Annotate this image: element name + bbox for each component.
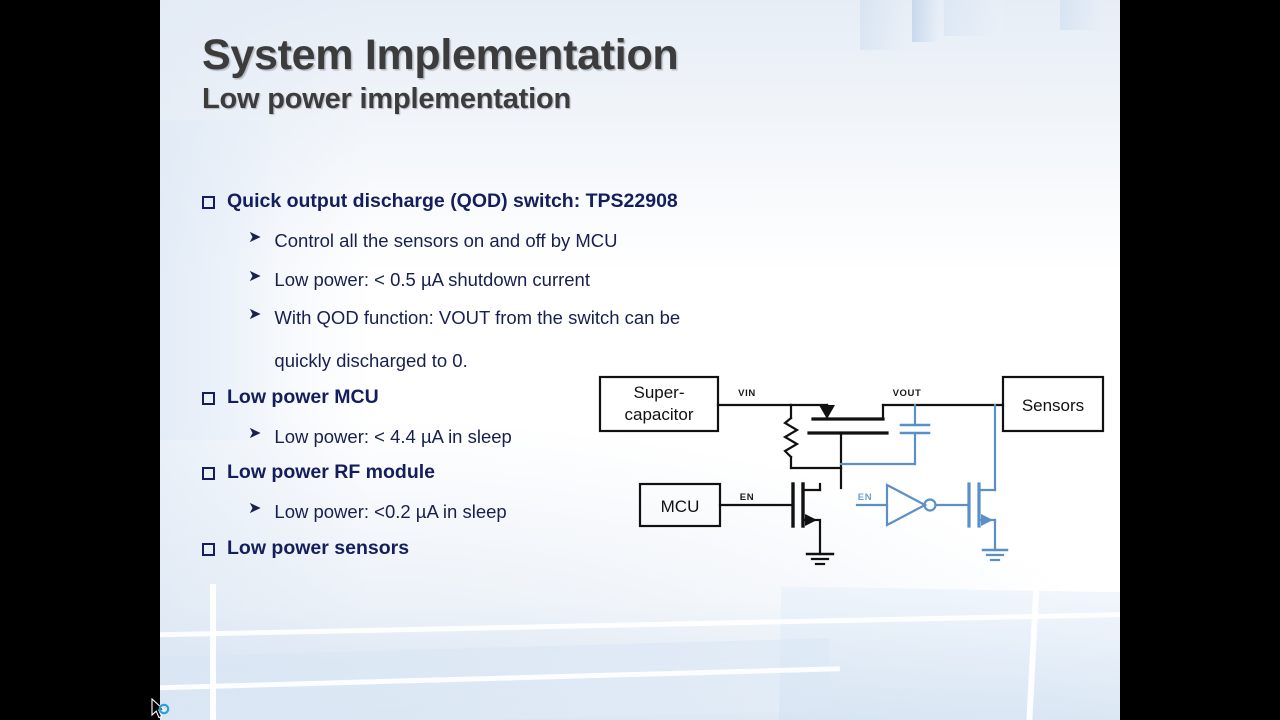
bullet-level2: ➤ Control all the sensors on and off by … xyxy=(248,227,842,256)
nmos-right-body-arrow xyxy=(981,514,993,526)
arrow-bullet-icon: ➤ xyxy=(248,269,261,285)
background-band xyxy=(779,586,1120,720)
mcu-label: MCU xyxy=(661,497,700,516)
arrow-bullet-icon: ➤ xyxy=(248,230,261,246)
vout-label: VOUT xyxy=(893,388,922,399)
presentation-slide: System Implementation Low power implemen… xyxy=(160,0,1120,720)
background-line xyxy=(1026,578,1040,720)
circuit-diagram: Super- capacitor Sensors MCU VIN VOUT EN… xyxy=(595,372,1115,577)
background-band xyxy=(160,589,1120,720)
background-line xyxy=(160,666,840,691)
arrow-bullet-icon: ➤ xyxy=(248,426,261,442)
background-line xyxy=(210,584,216,720)
page-subtitle: Low power implementation xyxy=(202,81,1082,117)
bullet-text: Control all the sensors on and off by MC… xyxy=(274,227,617,256)
en-mcu-label: EN xyxy=(740,492,754,503)
pmos-body-arrow xyxy=(819,405,835,419)
square-bullet-icon xyxy=(202,392,215,405)
screen: System Implementation Low power implemen… xyxy=(0,0,1280,720)
bullet-text: With QOD function: VOUT from the switch … xyxy=(274,304,680,333)
background-stripe xyxy=(944,0,1004,36)
page-title: System Implementation xyxy=(202,34,1082,77)
square-bullet-icon xyxy=(202,467,215,480)
supercapacitor-label-line1: Super- xyxy=(633,383,684,402)
arrow-bullet-icon: ➤ xyxy=(248,501,261,517)
pull-up-resistor xyxy=(785,418,797,457)
bullet-text: Low power sensors xyxy=(227,537,409,560)
vin-label: VIN xyxy=(738,388,756,399)
background-stripe xyxy=(1060,0,1104,30)
nmos-left-body-arrow xyxy=(805,514,817,526)
bullet-text: Low power: <0.2 µA in sleep xyxy=(274,498,506,527)
bullet-level1: Quick output discharge (QOD) switch: TPS… xyxy=(202,190,842,213)
sensors-label: Sensors xyxy=(1022,396,1084,415)
title-block: System Implementation Low power implemen… xyxy=(202,34,1082,117)
square-bullet-icon xyxy=(202,543,215,556)
background-line xyxy=(160,611,1120,637)
supercapacitor-label-line2: capacitor xyxy=(625,405,694,424)
bullet-level2: ➤ Low power: < 0.5 µA shutdown current xyxy=(248,266,842,295)
bullet-text: Quick output discharge (QOD) switch: TPS… xyxy=(227,190,678,213)
en-inverter-label: EN xyxy=(858,492,872,503)
bullet-level2: ➤ With QOD function: VOUT from the switc… xyxy=(248,304,842,333)
background-band xyxy=(160,638,831,720)
bullet-text: Low power MCU xyxy=(227,386,379,409)
arrow-bullet-icon: ➤ xyxy=(248,307,261,323)
bullet-text: Low power: < 0.5 µA shutdown current xyxy=(274,266,590,295)
bullet-text: Low power: < 4.4 µA in sleep xyxy=(274,423,511,452)
bullet-text: quickly discharged to 0. xyxy=(274,347,467,376)
inverter-gate xyxy=(887,485,925,525)
bullet-text: Low power RF module xyxy=(227,461,435,484)
square-bullet-icon xyxy=(202,196,215,209)
